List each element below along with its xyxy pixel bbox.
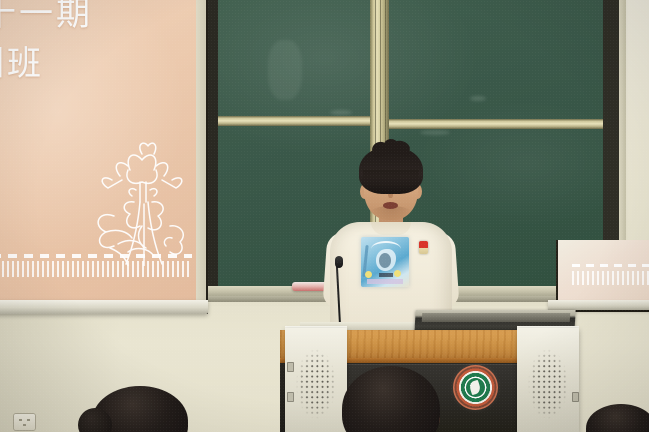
- projection-screen-left: 十一期 训班: [0, 0, 197, 304]
- lotus-line-art: [84, 140, 197, 266]
- screen-right-bottom-bar: [548, 300, 649, 310]
- chalkboard-rail-horizontal: [389, 119, 603, 129]
- microphone-head: [335, 256, 343, 268]
- tower-port-left[interactable]: [287, 362, 294, 372]
- graphic-flower: [394, 270, 401, 277]
- fence-dash-row: [572, 264, 649, 267]
- outlet-slot: [27, 419, 30, 421]
- speaker-grille-left: [294, 348, 338, 420]
- speaker-mouth: [383, 202, 398, 209]
- fence-bar-row: [572, 271, 649, 285]
- slide-fence-ornament: [0, 254, 192, 290]
- shirt-graphic-print: [361, 237, 409, 287]
- lapel-badge-pin: [419, 241, 428, 254]
- graphic-band: [367, 279, 403, 284]
- chalk-smudge: [268, 40, 302, 100]
- graphic-figure: [379, 253, 391, 268]
- chalk-smudge: [330, 110, 352, 115]
- hair-tuft: [384, 139, 398, 151]
- chalk-smudge: [470, 96, 486, 101]
- screen-left-bottom-bar: [0, 300, 208, 314]
- graphic-flower: [365, 271, 372, 278]
- podium-monitor-screen[interactable]: [422, 313, 570, 322]
- speaker-hair-fringe: [363, 170, 419, 188]
- power-outlet[interactable]: [14, 414, 35, 430]
- outlet-slot: [19, 419, 22, 421]
- photo-scene: 十一期 训班: [0, 0, 649, 432]
- fence-bar-row: [0, 261, 192, 277]
- speaker-grille-right: [526, 348, 570, 420]
- slide-title-line2: 训班: [0, 36, 44, 85]
- chalk-smudge: [420, 130, 450, 135]
- fence-dash-row: [0, 254, 192, 258]
- chalkboard-rail-horizontal: [218, 116, 370, 126]
- tower-port-right[interactable]: [572, 392, 579, 402]
- projection-screen-right: [558, 240, 649, 304]
- screen-left-side-trim: [196, 0, 206, 304]
- graphic-text-block: [379, 273, 393, 277]
- outlet-slot: [23, 424, 26, 426]
- tower-port-left[interactable]: [287, 392, 294, 402]
- slide-title-line1: 十一期: [0, 0, 93, 35]
